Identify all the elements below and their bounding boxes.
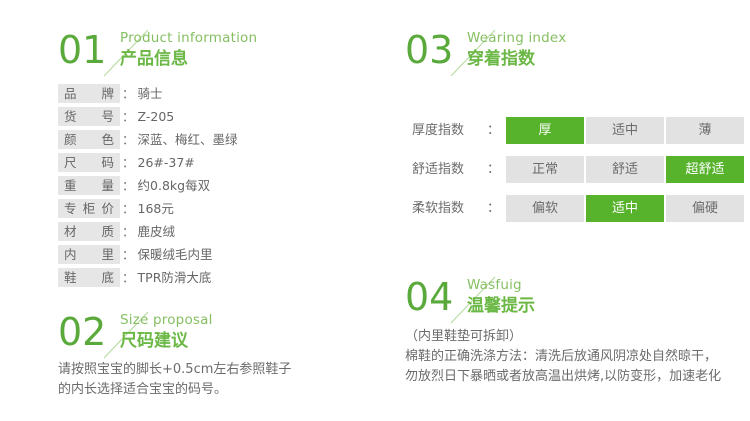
wearing-index-option[interactable]: 正常 (506, 156, 584, 183)
wearing-index-label: 厚度指数 (412, 117, 487, 144)
info-row-value: 鹿皮绒 (138, 222, 176, 241)
info-row-separator: ： (120, 130, 138, 149)
section-title-en-03: Wearing index (467, 30, 566, 47)
info-row-separator: ： (120, 199, 138, 218)
wearing-index-options: 偏软适中偏硬 (506, 195, 744, 222)
tips-text: （内里鞋垫可拆卸）棉鞋的正确洗涤方法：清洗后放通风阴凉处自然晾干，勿放烈日下暴晒… (405, 327, 721, 387)
info-row-value: 约0.8kg每双 (138, 176, 211, 195)
info-row: 尺码：26#-37# (58, 153, 238, 172)
wearing-index-colon: ： (487, 117, 506, 144)
info-row: 重量：约0.8kg每双 (58, 176, 238, 195)
info-row-label: 材质 (58, 222, 120, 241)
right-column: 03 Wearing index 穿着指数 厚度指数：厚适中薄舒适指数：正常舒适… (375, 0, 750, 421)
info-row-label: 尺码 (58, 153, 120, 172)
wearing-index-option[interactable]: 偏软 (506, 195, 584, 222)
wearing-index-row: 舒适指数：正常舒适超舒适 (412, 156, 744, 183)
wearing-index-options: 正常舒适超舒适 (506, 156, 744, 183)
section-titles-02: Size proposal 尺码建议 (120, 312, 213, 352)
info-row-separator: ： (120, 176, 138, 195)
info-row-label: 鞋底 (58, 268, 120, 287)
info-row-separator: ： (120, 107, 138, 126)
wearing-index-colon: ： (487, 195, 506, 222)
product-detail-page: 01 Product information 产品信息 品牌：骑士货号：Z-20… (0, 0, 750, 421)
section-titles-01: Product information 产品信息 (120, 30, 257, 70)
section-title-en-02: Size proposal (120, 312, 213, 329)
wearing-index-options: 厚适中薄 (506, 117, 744, 144)
section-title-cn-04: 温馨提示 (467, 295, 535, 317)
wearing-index-option[interactable]: 适中 (586, 117, 664, 144)
wearing-index-option-selected[interactable]: 超舒适 (666, 156, 744, 183)
paragraph-line: （内里鞋垫可拆卸） (405, 327, 721, 347)
info-row-label: 专柜价 (58, 199, 120, 218)
section-title-cn-02: 尺码建议 (120, 330, 213, 352)
section-number-02: 02 (58, 312, 106, 352)
paragraph-line: 勿放烈日下暴晒或者放高温出烘烤,以防变形，加速老化 (405, 367, 721, 387)
info-row: 品牌：骑士 (58, 84, 238, 103)
info-row-label: 颜色 (58, 130, 120, 149)
wearing-index-label: 柔软指数 (412, 195, 487, 222)
info-row: 专柜价：168元 (58, 199, 238, 218)
size-proposal-text: 请按照宝宝的脚长+0.5cm左右参照鞋子的内长选择适合宝宝的码号。 (58, 360, 291, 400)
wearing-index-table: 厚度指数：厚适中薄舒适指数：正常舒适超舒适柔软指数：偏软适中偏硬 (412, 117, 744, 234)
wearing-index-row: 柔软指数：偏软适中偏硬 (412, 195, 744, 222)
info-row-label: 品牌 (58, 84, 120, 103)
section-number-04: 04 (405, 277, 453, 317)
section-title-cn-01: 产品信息 (120, 48, 257, 70)
section-title-cn-03: 穿着指数 (467, 48, 566, 70)
info-row: 颜色：深蓝、梅红、墨绿 (58, 130, 238, 149)
left-column: 01 Product information 产品信息 品牌：骑士货号：Z-20… (0, 0, 375, 421)
section-titles-04: Wasfuig 温馨提示 (467, 277, 535, 317)
wearing-index-option-selected[interactable]: 适中 (586, 195, 664, 222)
section-number-01: 01 (58, 30, 106, 70)
product-info-table: 品牌：骑士货号：Z-205颜色：深蓝、梅红、墨绿尺码：26#-37#重量：约0.… (58, 84, 238, 291)
info-row-value: 深蓝、梅红、墨绿 (138, 130, 238, 149)
paragraph-line: 棉鞋的正确洗涤方法：清洗后放通风阴凉处自然晾干， (405, 347, 721, 367)
section-title-en-04: Wasfuig (467, 277, 535, 294)
info-row: 货号：Z-205 (58, 107, 238, 126)
wearing-index-label: 舒适指数 (412, 156, 487, 183)
wearing-index-colon: ： (487, 156, 506, 183)
info-row-value: TPR防滑大底 (138, 268, 212, 287)
info-row-label: 重量 (58, 176, 120, 195)
info-row-value: Z-205 (138, 107, 175, 126)
info-row-separator: ： (120, 84, 138, 103)
info-row-value: 168元 (138, 199, 174, 218)
section-title-en-01: Product information (120, 30, 257, 47)
info-row-separator: ： (120, 153, 138, 172)
info-row: 材质：鹿皮绒 (58, 222, 238, 241)
wearing-index-option[interactable]: 舒适 (586, 156, 664, 183)
section-titles-03: Wearing index 穿着指数 (467, 30, 566, 70)
info-row: 内里：保暖绒毛内里 (58, 245, 238, 264)
section-number-03: 03 (405, 30, 453, 70)
info-row-separator: ： (120, 245, 138, 264)
wearing-index-option[interactable]: 薄 (666, 117, 744, 144)
paragraph-line: 请按照宝宝的脚长+0.5cm左右参照鞋子 (58, 360, 291, 380)
info-row-separator: ： (120, 268, 138, 287)
info-row-label: 内里 (58, 245, 120, 264)
info-row-separator: ： (120, 222, 138, 241)
paragraph-line: 的内长选择适合宝宝的码号。 (58, 380, 291, 400)
info-row-value: 骑士 (138, 84, 163, 103)
wearing-index-option-selected[interactable]: 厚 (506, 117, 584, 144)
wearing-index-option[interactable]: 偏硬 (666, 195, 744, 222)
wearing-index-row: 厚度指数：厚适中薄 (412, 117, 744, 144)
info-row-value: 保暖绒毛内里 (138, 245, 213, 264)
info-row: 鞋底：TPR防滑大底 (58, 268, 238, 287)
info-row-value: 26#-37# (138, 153, 195, 172)
info-row-label: 货号 (58, 107, 120, 126)
